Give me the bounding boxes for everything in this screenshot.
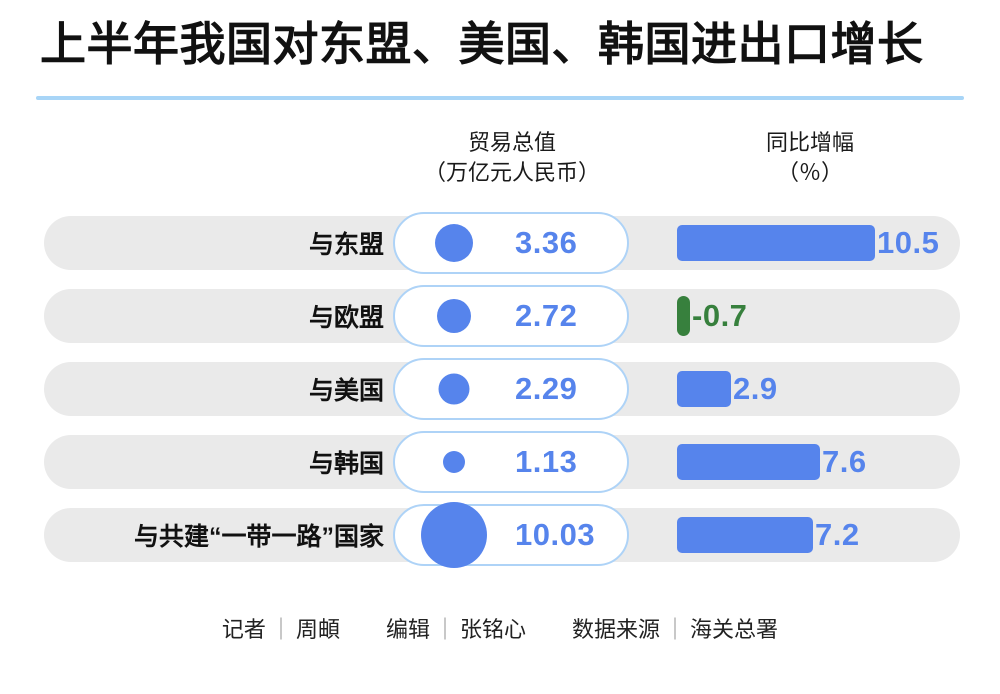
credit-reporter-name: 周頔: [296, 617, 340, 642]
growth-value: -0.7: [692, 289, 747, 343]
table-row: 与东盟3.3610.5: [0, 216, 1000, 270]
credit-source-label: 数据来源: [572, 617, 660, 642]
table-row: 与韩国1.137.6: [0, 435, 1000, 489]
credit-editor: 编辑｜张铭心: [386, 612, 526, 644]
value-number: 1.13: [393, 431, 629, 493]
credit-separator: ｜: [266, 617, 296, 642]
infographic-page: 上半年我国对东盟、美国、韩国进出口增长 贸易总值 （万亿元人民币） 同比增幅 （…: [0, 0, 1000, 694]
header-growth-rate-line2: （％）: [660, 158, 960, 188]
title-divider: [36, 96, 964, 100]
header-trade-value-line1: 贸易总值: [393, 128, 631, 158]
credit-editor-name: 张铭心: [460, 617, 526, 642]
row-label: 与欧盟: [44, 289, 384, 343]
header-growth-rate-line1: 同比增幅: [660, 128, 960, 158]
row-label: 与共建“一带一路”国家: [44, 508, 384, 562]
credit-separator: ｜: [660, 617, 690, 642]
growth-value: 7.6: [822, 435, 867, 489]
growth-bar: [677, 517, 813, 553]
title-block: 上半年我国对东盟、美国、韩国进出口增长: [40, 18, 970, 71]
value-number: 10.03: [393, 504, 629, 566]
growth-bar: [677, 225, 875, 261]
column-headers: 贸易总值 （万亿元人民币） 同比增幅 （％）: [0, 128, 1000, 194]
credit-source-name: 海关总署: [690, 617, 778, 642]
table-row: 与美国2.292.9: [0, 362, 1000, 416]
value-number: 3.36: [393, 212, 629, 274]
row-label: 与韩国: [44, 435, 384, 489]
row-label: 与东盟: [44, 216, 384, 270]
credit-reporter: 记者｜周頔: [222, 612, 340, 644]
credit-source: 数据来源｜海关总署: [572, 612, 778, 644]
credit-reporter-label: 记者: [222, 617, 266, 642]
table-row: 与共建“一带一路”国家10.037.2: [0, 508, 1000, 562]
credit-editor-label: 编辑: [386, 617, 430, 642]
growth-bar: [677, 371, 731, 407]
footer-credits: 记者｜周頔 编辑｜张铭心 数据来源｜海关总署: [0, 612, 1000, 644]
row-label: 与美国: [44, 362, 384, 416]
header-growth-rate: 同比增幅 （％）: [660, 128, 960, 187]
value-number: 2.72: [393, 285, 629, 347]
header-trade-value: 贸易总值 （万亿元人民币）: [393, 128, 631, 187]
growth-value: 7.2: [815, 508, 860, 562]
growth-bar: [677, 296, 690, 336]
credit-separator: ｜: [430, 617, 460, 642]
page-title: 上半年我国对东盟、美国、韩国进出口增长: [40, 18, 970, 71]
value-number: 2.29: [393, 358, 629, 420]
growth-value: 2.9: [733, 362, 778, 416]
header-trade-value-line2: （万亿元人民币）: [393, 158, 631, 188]
data-rows: 与东盟3.3610.5与欧盟2.72-0.7与美国2.292.9与韩国1.137…: [0, 216, 1000, 581]
growth-bar: [677, 444, 820, 480]
growth-value: 10.5: [877, 216, 939, 270]
table-row: 与欧盟2.72-0.7: [0, 289, 1000, 343]
